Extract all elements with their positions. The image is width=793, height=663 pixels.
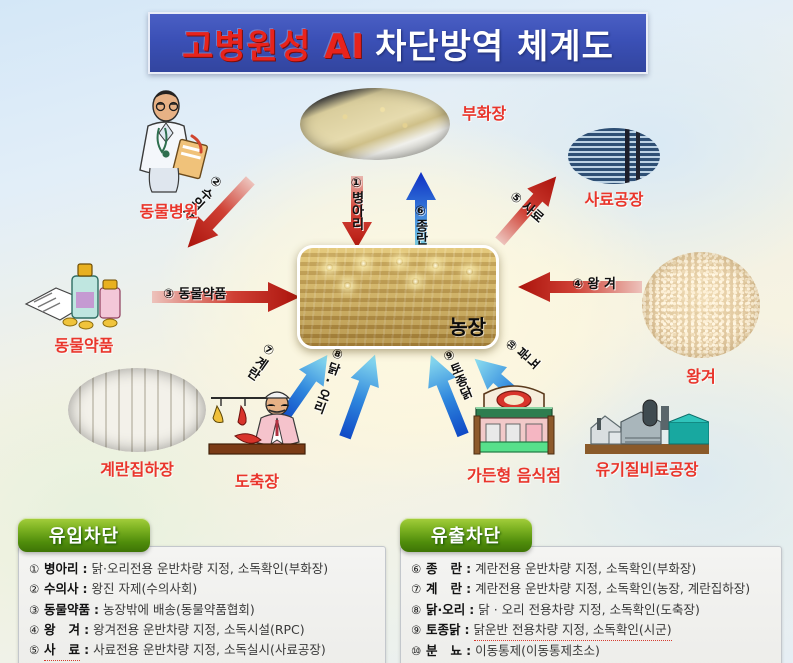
- infographic-canvas: 고병원성 AI 차단방역 체계도 ①병아리 ⑥종란 ②수의사: [0, 0, 793, 663]
- node-feed-factory[interactable]: 사료공장: [568, 128, 660, 210]
- page-title: 고병원성 AI 차단방역 체계도: [148, 12, 648, 74]
- node-fertilizer-plant-label: 유기질비료공장: [595, 456, 698, 480]
- node-farm[interactable]: 농장: [297, 245, 499, 349]
- node-hatchery-label-wrap: 부화장: [462, 100, 506, 124]
- legend-item-key: 동물약품: [44, 600, 90, 620]
- arrow-1-label: ①병아리: [349, 176, 363, 230]
- legend-item-number: ⑦: [411, 580, 426, 599]
- legend-outflow-header: 유출차단: [400, 518, 532, 552]
- title-red-text: 고병원성 AI: [182, 19, 365, 68]
- legend-item: ⑤ 사 료 : 사료전용 운반차량 지정, 소독실시(사료공장): [29, 640, 377, 661]
- legend-item-value: 계란전용 운반차량 지정, 소독확인(부화장): [475, 559, 696, 579]
- title-white-text: 차단방역 체계도: [375, 19, 614, 68]
- legend-item-number: ⑨: [411, 621, 426, 640]
- node-slaughterhouse[interactable]: 도축장: [205, 382, 309, 492]
- node-farm-label: 농장: [449, 311, 486, 340]
- legend-item-number: ③: [29, 601, 44, 620]
- legend-inflow-title: 유입차단: [49, 522, 119, 548]
- medicine-bottle-icon: [24, 252, 144, 330]
- legend-item-key: 토종닭: [426, 620, 461, 640]
- legend-item-key: 종 란: [426, 559, 462, 579]
- legend-item: ⑨ 토종닭 : 닭운반 전용차량 지정, 소독확인(시군): [411, 620, 773, 641]
- fertilizer-plant-icon: [585, 392, 709, 454]
- legend-item-number: ④: [29, 621, 44, 640]
- legend-item-key: 왕 겨: [44, 620, 80, 640]
- legend-item-key: 분 뇨: [426, 641, 462, 661]
- arrow-4-label: ④ 왕 겨: [572, 273, 616, 292]
- legend-item: ⑦ 계 란 : 계란전용 운반차량 지정, 소독확인(농장, 계란집하장): [411, 579, 773, 599]
- legend-item-key: 사 료: [44, 640, 80, 661]
- veterinarian-icon: [126, 90, 212, 194]
- legend-item: ⑧ 닭·오리 : 닭 · 오리 전용차량 지정, 소독확인(도축장): [411, 600, 773, 620]
- legend-inflow: 유입차단 ① 병아리 : 닭·오리전용 운반차량 지정, 소독확인(부화장) ②…: [18, 518, 386, 663]
- legend-inflow-body: ① 병아리 : 닭·오리전용 운반차량 지정, 소독확인(부화장) ② 수의사 …: [18, 546, 386, 663]
- legend-item-number: ⑤: [29, 641, 44, 660]
- node-rice-hull[interactable]: 왕겨: [642, 252, 760, 387]
- legend-item-value: 닭운반 전용차량 지정, 소독확인(시군): [474, 620, 672, 641]
- legend-item-value: 닭 · 오리 전용차량 지정, 소독확인(도축장): [478, 600, 700, 620]
- legend-item: ⑩ 분 뇨 : 이동통제(이동통제초소): [411, 641, 773, 661]
- legend-item-value: 닭·오리전용 운반차량 지정, 소독확인(부화장): [92, 559, 329, 579]
- legend-item-key: 수의사: [44, 579, 79, 599]
- node-hatchery[interactable]: [300, 88, 450, 160]
- legend-item-number: ②: [29, 580, 44, 599]
- legend-item-key: 병아리: [44, 559, 79, 579]
- legend-item: ⑥ 종 란 : 계란전용 운반차량 지정, 소독확인(부화장): [411, 559, 773, 579]
- legend-item-number: ①: [29, 560, 44, 579]
- node-animal-hospital-label: 동물병원: [140, 198, 199, 222]
- legend-outflow-body: ⑥ 종 란 : 계란전용 운반차량 지정, 소독확인(부화장) ⑦ 계 란 : …: [400, 546, 782, 663]
- legend-item-number: ⑥: [411, 560, 426, 579]
- arrow-6-label: ⑥종란: [413, 204, 427, 245]
- node-animal-hospital[interactable]: 동물병원: [126, 90, 212, 222]
- node-animal-medicine-label: 동물약품: [55, 332, 114, 356]
- butcher-icon: [205, 382, 309, 466]
- legend-item-value: 사료전용 운반차량 지정, 소독실시(사료공장): [93, 640, 326, 660]
- legend-item: ① 병아리 : 닭·오리전용 운반차량 지정, 소독확인(부화장): [29, 559, 377, 579]
- legend-item-value: 이동통제(이동통제초소): [475, 641, 600, 661]
- legend-item-number: ⑩: [411, 642, 426, 661]
- legend-item: ④ 왕 겨 : 왕겨전용 운반차량 지정, 소독시설(RPC): [29, 620, 377, 640]
- node-slaughterhouse-label: 도축장: [235, 468, 279, 492]
- legend-outflow-title: 유출차단: [431, 522, 501, 548]
- node-feed-factory-label: 사료공장: [585, 186, 644, 210]
- node-rice-hull-label: 왕겨: [686, 363, 715, 387]
- chick-tray-icon: [300, 88, 450, 160]
- node-animal-medicine[interactable]: 동물약품: [24, 252, 144, 356]
- node-fertilizer-plant[interactable]: 유기질비료공장: [585, 392, 709, 480]
- rice-hull-icon: [642, 252, 760, 358]
- legend-inflow-header: 유입차단: [18, 518, 150, 552]
- legend-item-key: 계 란: [426, 579, 462, 599]
- arrow-7-label: ⑦계란: [243, 340, 278, 381]
- legend-item-key: 닭·오리: [426, 600, 465, 620]
- legend-item-value: 왕겨전용 운반차량 지정, 소독시설(RPC): [93, 620, 305, 640]
- legend-item-value: 왕진 자제(수의사회): [92, 579, 198, 599]
- node-egg-depot-label: 계란집하장: [100, 456, 174, 480]
- node-hatchery-label: 부화장: [462, 100, 506, 124]
- node-egg-depot[interactable]: 계란집하장: [68, 368, 206, 480]
- legend-item-value: 계란전용 운반차량 지정, 소독확인(농장, 계란집하장): [475, 579, 750, 599]
- legend-item-value: 농장밖에 배송(동물약품협회): [103, 600, 255, 620]
- legend-item: ② 수의사 : 왕진 자제(수의사회): [29, 579, 377, 599]
- legend-item-number: ⑧: [411, 601, 426, 620]
- node-restaurant-label: 가든형 음식점: [467, 462, 561, 486]
- legend-item: ③ 동물약품 : 농장밖에 배송(동물약품협회): [29, 600, 377, 620]
- egg-warehouse-icon: [68, 368, 206, 452]
- node-restaurant[interactable]: 가든형 음식점: [462, 378, 566, 486]
- factory-icon: [568, 128, 660, 184]
- restaurant-icon: [462, 378, 566, 460]
- legend-outflow: 유출차단 ⑥ 종 란 : 계란전용 운반차량 지정, 소독확인(부화장) ⑦ 계…: [400, 518, 782, 663]
- arrow-3-label: ③ 동물약품: [163, 283, 226, 302]
